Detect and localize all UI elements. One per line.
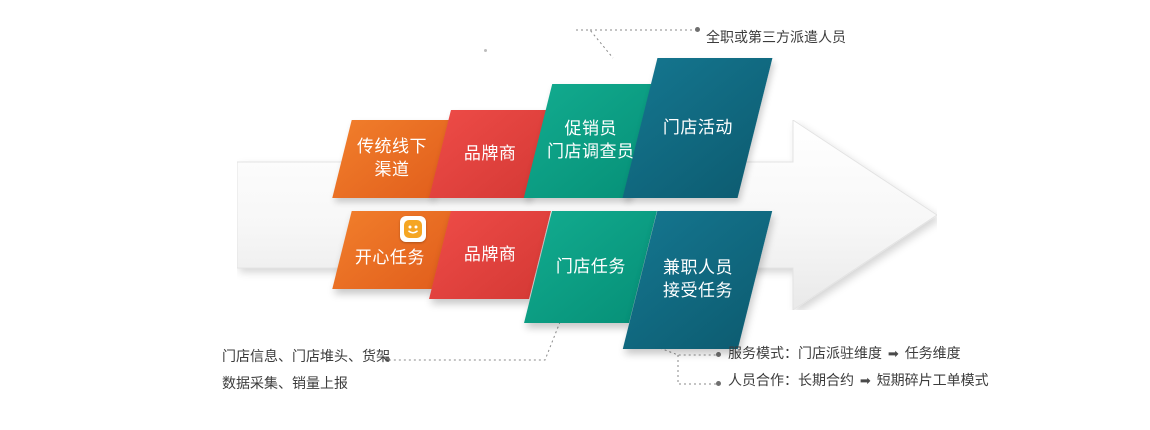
- smiley-app-icon: [400, 216, 426, 242]
- step-label: 开心任务: [351, 247, 429, 270]
- service-mode-suffix: 任务维度: [905, 345, 961, 361]
- callout-bottom-left: 门店信息、门店堆头、货架 数据采集、销量上报: [222, 343, 390, 396]
- right-arrow-icon: ➡: [886, 346, 901, 361]
- step-label: 品牌商: [460, 143, 521, 166]
- step-label: 门店任务: [552, 256, 630, 279]
- leader-dot-top-right: [695, 27, 700, 32]
- staff-coop-prefix: 人员合作：长期合约: [728, 372, 854, 388]
- step-label: 门店活动: [659, 117, 737, 140]
- step-label: 传统线下 渠道: [353, 136, 431, 182]
- staff-coop-suffix: 短期碎片工单模式: [877, 372, 989, 388]
- step-label: 兼职人员 接受任务: [659, 257, 737, 303]
- diagram-canvas: 传统线下 渠道 品牌商 促销员 门店调查员 门店活动 开心任务 品牌商 门店任务…: [0, 0, 1150, 430]
- callout-bottom-left-line1: 门店信息、门店堆头、货架: [222, 343, 390, 370]
- smiley-glyph: [403, 219, 423, 239]
- service-mode-prefix: 服务模式：门店派驻维度: [728, 345, 882, 361]
- step-label: 品牌商: [460, 244, 521, 267]
- callout-top-right: 全职或第三方派遣人员: [706, 24, 846, 51]
- callout-bottom-right-line2: 人员合作：长期合约 ➡ 短期碎片工单模式: [728, 367, 989, 394]
- leader-dot-bottom-right-2: [716, 381, 721, 386]
- callout-top-right-text: 全职或第三方派遣人员: [706, 24, 846, 51]
- right-arrow-icon: ➡: [858, 373, 873, 388]
- callout-bottom-left-line2: 数据采集、销量上报: [222, 370, 390, 397]
- callout-bottom-right: 服务模式：门店派驻维度 ➡ 任务维度 人员合作：长期合约 ➡ 短期碎片工单模式: [728, 340, 989, 393]
- step-label: 促销员 门店调查员: [543, 118, 639, 164]
- stray-dot: [484, 49, 487, 52]
- leader-dot-bottom-right-1: [716, 352, 721, 357]
- callout-bottom-right-line1: 服务模式：门店派驻维度 ➡ 任务维度: [728, 340, 989, 367]
